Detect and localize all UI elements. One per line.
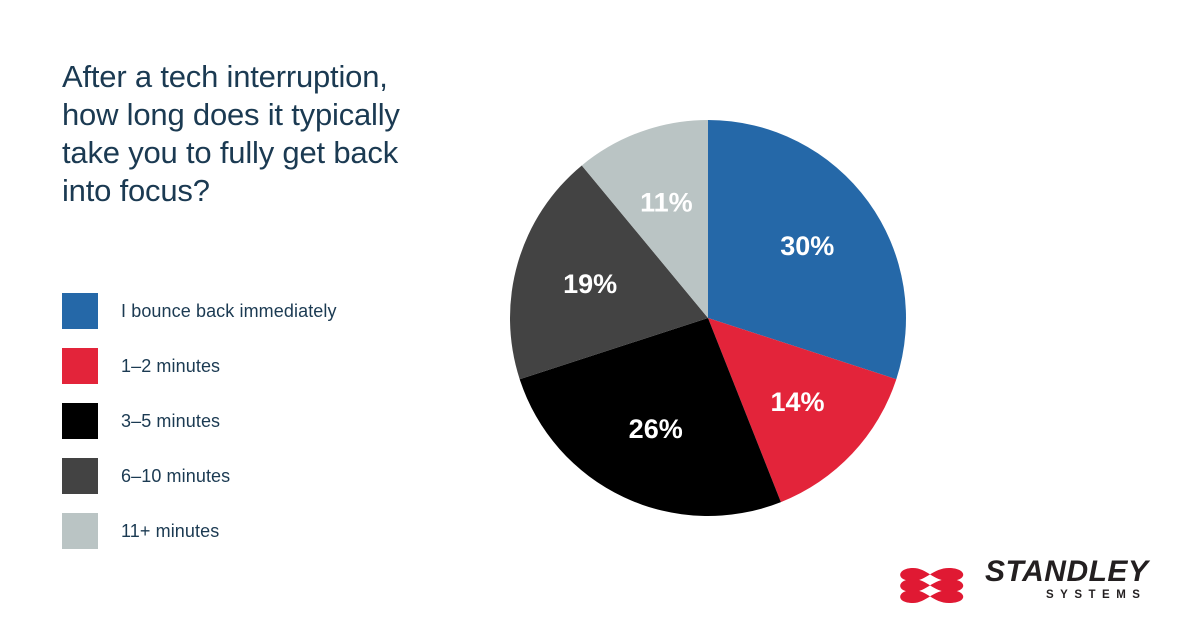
- stacked-infinity-icon: [893, 557, 971, 603]
- pie-slice-label-0: 30%: [780, 231, 834, 261]
- page-title: After a tech interruption, how long does…: [62, 58, 407, 210]
- legend-item-1[interactable]: 1–2 minutes: [62, 348, 337, 384]
- infinity-loop-0: [900, 568, 963, 581]
- legend-item-3[interactable]: 6–10 minutes: [62, 458, 337, 494]
- infographic-canvas: After a tech interruption, how long does…: [0, 0, 1200, 628]
- pie-slice-label-4: 11%: [640, 188, 693, 218]
- legend-label-3: 6–10 minutes: [121, 466, 230, 487]
- pie-slice-label-1: 14%: [770, 387, 824, 417]
- pie-slices-group: [510, 120, 906, 516]
- pie-chart: 30%14%26%19%11%: [470, 80, 946, 556]
- standley-systems-logo: STANDLEY SYSTEMS: [893, 554, 1163, 606]
- logo-subtitle: SYSTEMS: [985, 587, 1148, 603]
- legend-label-2: 3–5 minutes: [121, 411, 220, 432]
- pie-chart-svg: 30%14%26%19%11%: [470, 80, 946, 556]
- infinity-loop-1: [900, 579, 963, 592]
- legend-swatch-icon-4: [62, 513, 98, 549]
- left-panel: After a tech interruption, how long does…: [62, 58, 462, 210]
- legend-swatch-icon-3: [62, 458, 98, 494]
- legend-swatch-icon-2: [62, 403, 98, 439]
- legend-item-2[interactable]: 3–5 minutes: [62, 403, 337, 439]
- legend-swatch-icon-1: [62, 348, 98, 384]
- logo-name: STANDLEY: [985, 557, 1148, 587]
- infinity-loop-2: [900, 590, 963, 603]
- pie-slice-label-2: 26%: [629, 414, 683, 444]
- legend-item-4[interactable]: 11+ minutes: [62, 513, 337, 549]
- legend-swatch-icon-0: [62, 293, 98, 329]
- legend-label-4: 11+ minutes: [121, 521, 219, 542]
- legend-label-0: I bounce back immediately: [121, 301, 337, 322]
- legend-label-1: 1–2 minutes: [121, 356, 220, 377]
- pie-slice-label-3: 19%: [563, 269, 617, 299]
- chart-legend: I bounce back immediately 1–2 minutes 3–…: [62, 293, 337, 568]
- legend-item-0[interactable]: I bounce back immediately: [62, 293, 337, 329]
- logo-wordmark: STANDLEY SYSTEMS: [985, 557, 1148, 603]
